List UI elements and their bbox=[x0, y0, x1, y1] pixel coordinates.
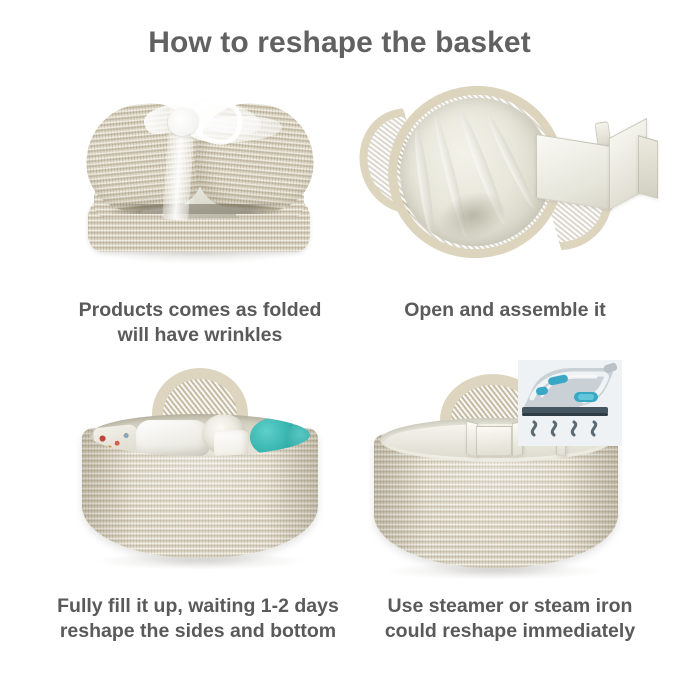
step-2-image bbox=[360, 84, 652, 262]
divider-panel bbox=[536, 134, 612, 210]
bottle-item bbox=[214, 430, 248, 456]
basket-opening bbox=[90, 414, 310, 456]
folded-basket-with-ribbon bbox=[78, 82, 323, 262]
divider-panel bbox=[638, 135, 658, 199]
open-basket-with-divider-insert bbox=[360, 84, 652, 262]
patterned-item bbox=[93, 424, 140, 456]
step-4-image bbox=[368, 360, 624, 572]
folded-basket-inner-shadow bbox=[108, 204, 284, 214]
step-3-image bbox=[74, 366, 326, 572]
filled-basket bbox=[74, 366, 326, 572]
steam-iron-badge bbox=[518, 360, 622, 446]
infographic-page: How to reshape the basket Produ bbox=[0, 0, 679, 679]
diaper-stack bbox=[136, 420, 210, 456]
step-4-caption: Use steamer or steam iron could reshape … bbox=[360, 594, 660, 644]
step-1-caption: Products comes as folded will have wrink… bbox=[40, 298, 360, 348]
interior-divider bbox=[476, 426, 512, 456]
empty-basket-with-steam-iron-icon bbox=[368, 360, 624, 572]
steam-iron-icon bbox=[518, 360, 622, 446]
divider-insert bbox=[536, 122, 656, 208]
open-basket-top-view bbox=[360, 84, 652, 262]
lining-inner-shadow bbox=[433, 184, 513, 248]
step-2-caption: Open and assemble it bbox=[370, 298, 640, 323]
step-1-image bbox=[78, 82, 323, 262]
step-3-caption: Fully fill it up, waiting 1-2 days resha… bbox=[28, 594, 368, 644]
page-title: How to reshape the basket bbox=[0, 26, 679, 60]
folded-basket-stack bbox=[84, 100, 316, 258]
